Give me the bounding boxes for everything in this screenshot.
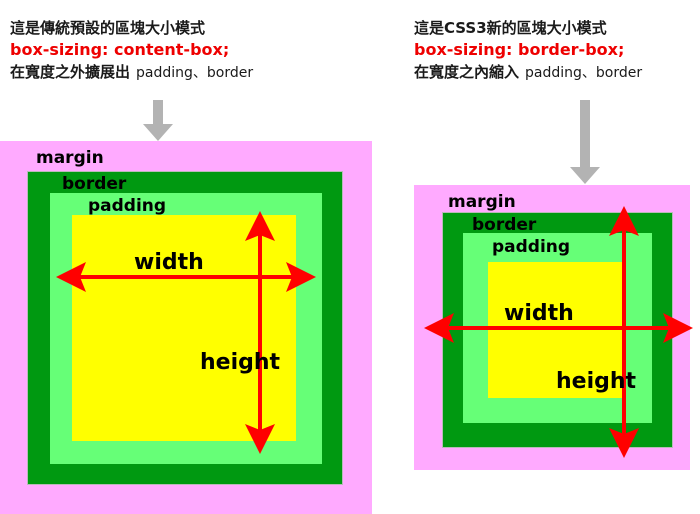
- left-caption-line-3: 在寬度之外擴展出padding、border: [10, 62, 253, 84]
- right-height-label: height: [556, 369, 636, 394]
- right-border-label: border: [472, 215, 536, 235]
- left-margin-label: margin: [36, 148, 104, 168]
- left-width-label: width: [134, 250, 204, 275]
- down-arrow-icon: [567, 100, 603, 185]
- right-caption-line-3: 在寬度之內縮入padding、border: [414, 62, 642, 84]
- left-caption-line-1: 這是傳統預設的區塊大小模式: [10, 18, 253, 39]
- left-height-label: height: [200, 350, 280, 375]
- box-sizing-infographic: 這是傳統預設的區塊大小模式 box-sizing: content-box; 在…: [0, 0, 700, 514]
- down-arrow-icon: [140, 100, 176, 142]
- right-caption-line-3-bold: 在寬度之內縮入: [414, 63, 519, 81]
- left-caption-code: box-sizing: content-box;: [10, 39, 253, 62]
- left-padding-label: padding: [88, 196, 166, 216]
- right-caption-line-1: 這是CSS3新的區塊大小模式: [414, 18, 642, 39]
- left-caption-line-3-bold: 在寬度之外擴展出: [10, 63, 130, 81]
- right-padding-label: padding: [492, 237, 570, 257]
- right-caption-block: 這是CSS3新的區塊大小模式 box-sizing: border-box; 在…: [414, 18, 642, 84]
- left-caption-line-3-light: padding、border: [130, 65, 253, 81]
- left-caption-block: 這是傳統預設的區塊大小模式 box-sizing: content-box; 在…: [10, 18, 253, 84]
- left-border-label: border: [62, 174, 126, 194]
- left-dimension-arrows: [52, 205, 317, 455]
- right-width-label: width: [504, 301, 574, 326]
- right-caption-line-3-light: padding、border: [519, 65, 642, 81]
- right-caption-code: box-sizing: border-box;: [414, 39, 642, 62]
- right-margin-label: margin: [448, 192, 516, 212]
